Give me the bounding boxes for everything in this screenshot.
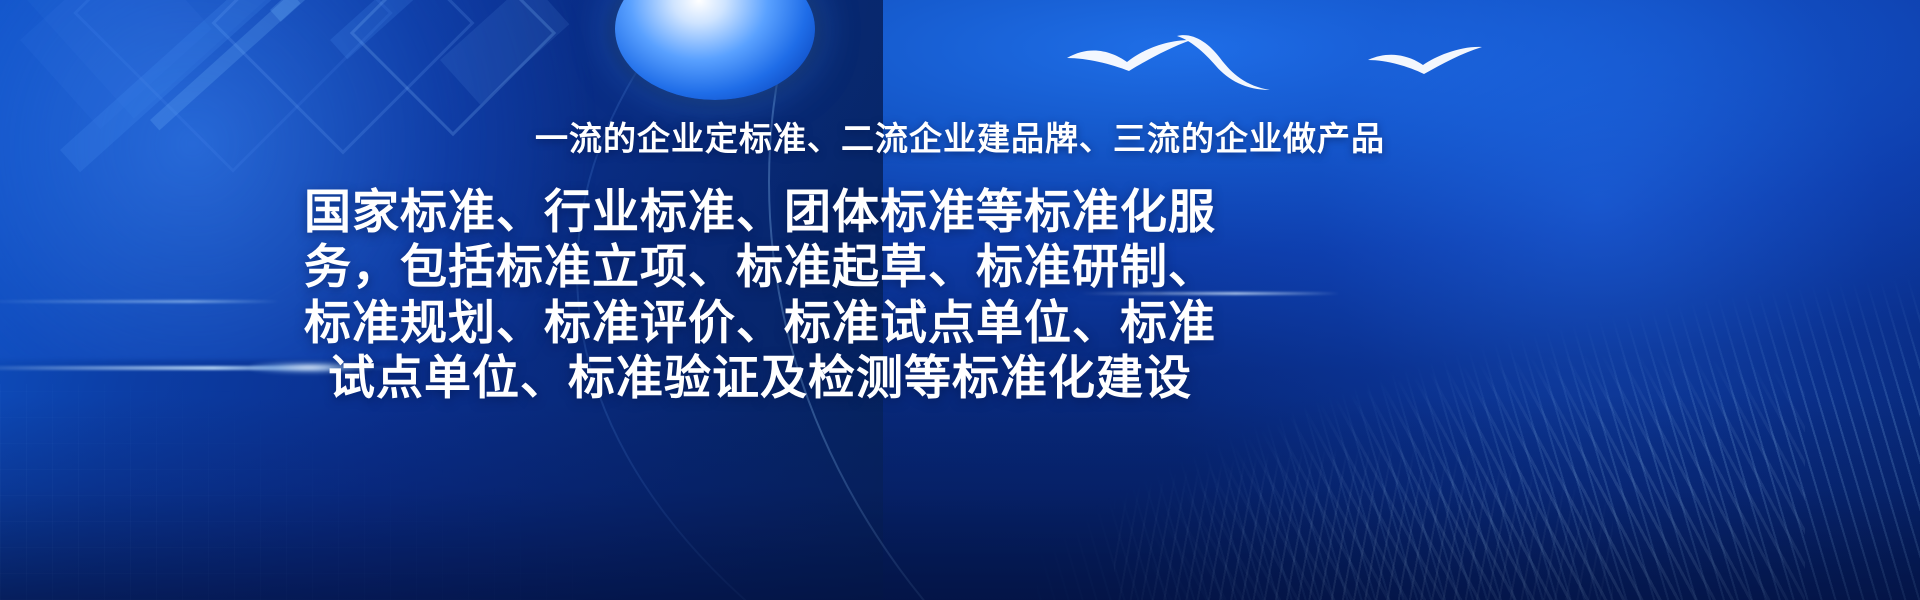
banner-text-container: 一流的企业定标准、二流企业建品牌、三流的企业做产品 国家标准、行业标准、团体标准… xyxy=(0,0,1920,600)
banner-canvas: 一流的企业定标准、二流企业建品牌、三流的企业做产品 国家标准、行业标准、团体标准… xyxy=(0,0,1920,600)
banner-body-line-3: 标准规划、标准评价、标准试点单位、标准 xyxy=(210,295,1310,350)
banner-headline: 一流的企业定标准、二流企业建品牌、三流的企业做产品 xyxy=(0,112,1920,160)
banner-body: 国家标准、行业标准、团体标准等标准化服 务，包括标准立项、标准起草、标准研制、 … xyxy=(210,184,1310,406)
banner-body-line-2: 务，包括标准立项、标准起草、标准研制、 xyxy=(210,239,1310,294)
banner-body-line-1: 国家标准、行业标准、团体标准等标准化服 xyxy=(210,184,1310,239)
banner-body-line-4: 试点单位、标准验证及检测等标准化建设 xyxy=(210,350,1310,405)
